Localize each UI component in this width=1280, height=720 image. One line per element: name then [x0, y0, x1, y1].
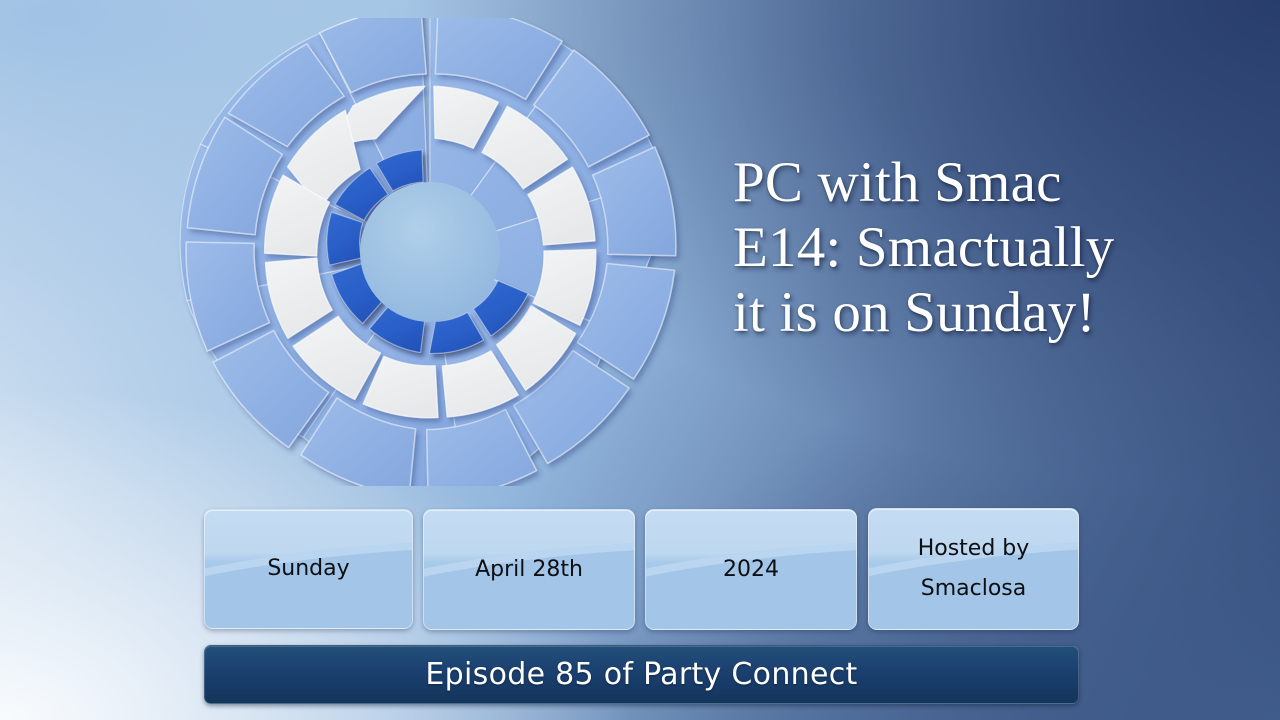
logo-hub-top — [360, 182, 500, 322]
info-box-label: April 28th — [475, 550, 583, 590]
info-box-day[interactable]: Sunday — [204, 509, 413, 629]
segmented-ring-logo — [170, 18, 690, 486]
info-box-date[interactable]: April 28th — [423, 509, 635, 630]
info-box-label: Sunday — [267, 549, 349, 589]
info-box-label: Hosted by Smaclosa — [918, 529, 1030, 609]
info-box-year[interactable]: 2024 — [645, 509, 857, 630]
info-box-host[interactable]: Hosted by Smaclosa — [868, 508, 1079, 630]
info-box-label: 2024 — [723, 550, 779, 590]
episode-banner-label: Episode 85 of Party Connect — [425, 657, 857, 692]
page-title: PC with Smac E14: Smactually it is on Su… — [733, 150, 1253, 345]
slide-canvas: PC with Smac E14: Smactually it is on Su… — [0, 0, 1280, 720]
episode-banner[interactable]: Episode 85 of Party Connect — [204, 645, 1079, 704]
